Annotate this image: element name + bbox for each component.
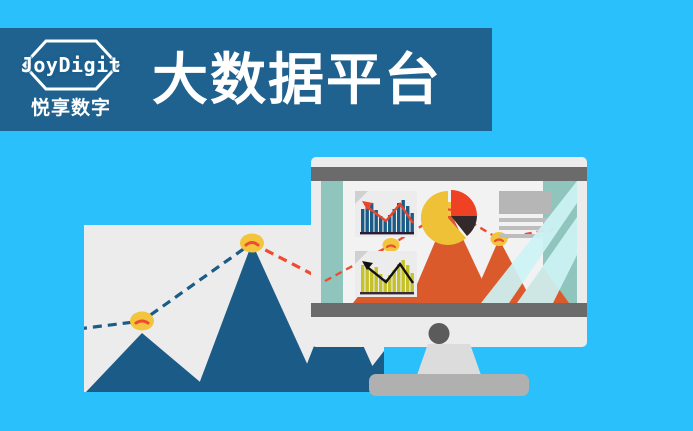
report-block: [499, 191, 551, 214]
data-node: [383, 238, 400, 252]
pie-slice-red: [451, 190, 477, 216]
data-node: [130, 312, 154, 331]
header-banner: JoyDigit 悦享数字 大数据平台: [0, 28, 492, 131]
logo-wordmark: JoyDigit: [21, 53, 121, 77]
baseline: [360, 292, 414, 294]
hexagon-icon: JoyDigit: [21, 39, 121, 91]
monitor-stand-neck: [416, 344, 482, 378]
desktop-monitor: [311, 157, 587, 387]
baseline: [360, 232, 414, 234]
monitor-stand-base: [369, 374, 529, 396]
report-line: [499, 226, 551, 230]
bar-chart-card-blue: [355, 191, 417, 237]
illustration-canvas: JoyDigit 悦享数字 大数据平台: [0, 0, 693, 431]
report-placeholder: [499, 191, 551, 235]
report-line: [499, 234, 551, 238]
mountain-shape-right: [471, 239, 533, 303]
monitor-screen: [321, 181, 577, 303]
logo-subtitle: 悦享数字: [31, 93, 111, 120]
pie-chart: [421, 189, 479, 247]
mountain-shape-center: [196, 243, 320, 392]
report-line: [499, 218, 551, 222]
power-indicator-icon: [429, 323, 450, 344]
page-title: 大数据平台: [152, 52, 442, 108]
bar-chart-card-olive: [355, 251, 417, 297]
mountain-shape-left: [86, 333, 212, 392]
mountain-shape-far-right: [517, 267, 569, 303]
monitor-bottom-bar: [311, 303, 587, 317]
monitor-top-bar: [311, 167, 587, 181]
data-node: [240, 234, 264, 253]
brand-logo: JoyDigit 悦享数字: [12, 37, 130, 123]
